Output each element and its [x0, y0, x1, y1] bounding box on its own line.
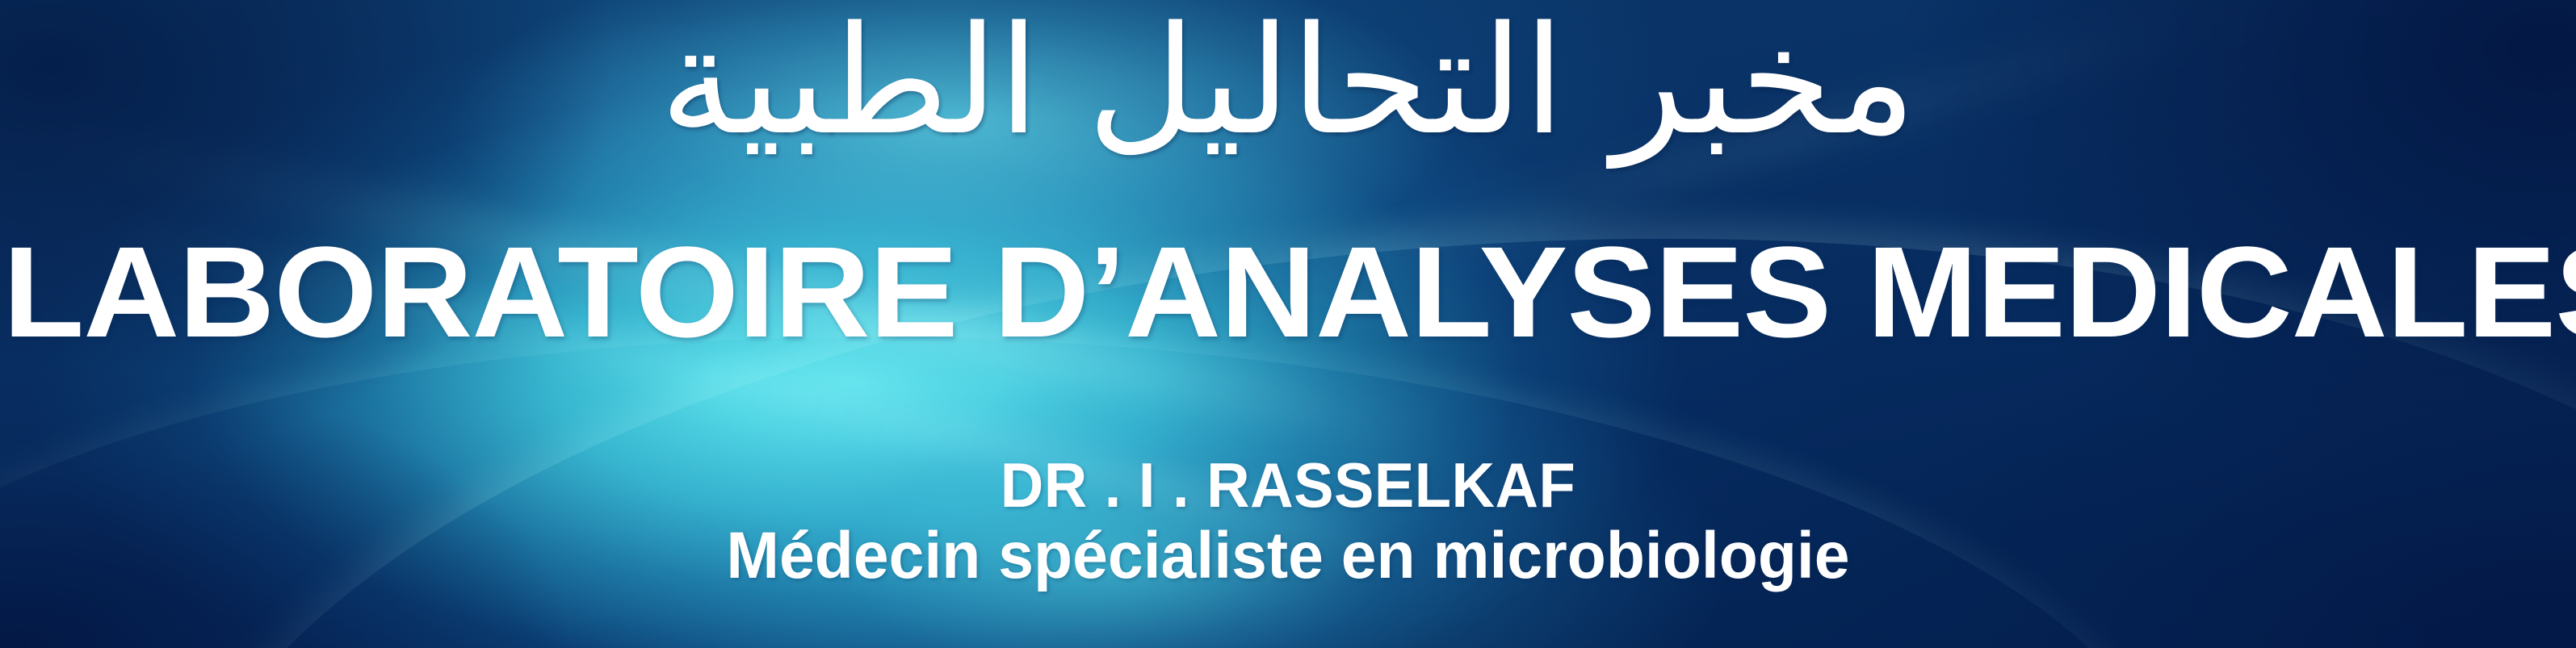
- doctor-specialty: Médecin spécialiste en microbiologie: [52, 523, 2524, 589]
- french-laboratory-title: LABORATOIRE D’ANALYSES MEDICALES: [3, 228, 2574, 357]
- arabic-laboratory-title: مخبر التحاليل الطبية: [0, 6, 2576, 156]
- doctor-name: DR . I . RASSELKAF: [65, 454, 2512, 516]
- laboratory-banner: مخبر التحاليل الطبية LABORATOIRE D’ANALY…: [0, 0, 2576, 648]
